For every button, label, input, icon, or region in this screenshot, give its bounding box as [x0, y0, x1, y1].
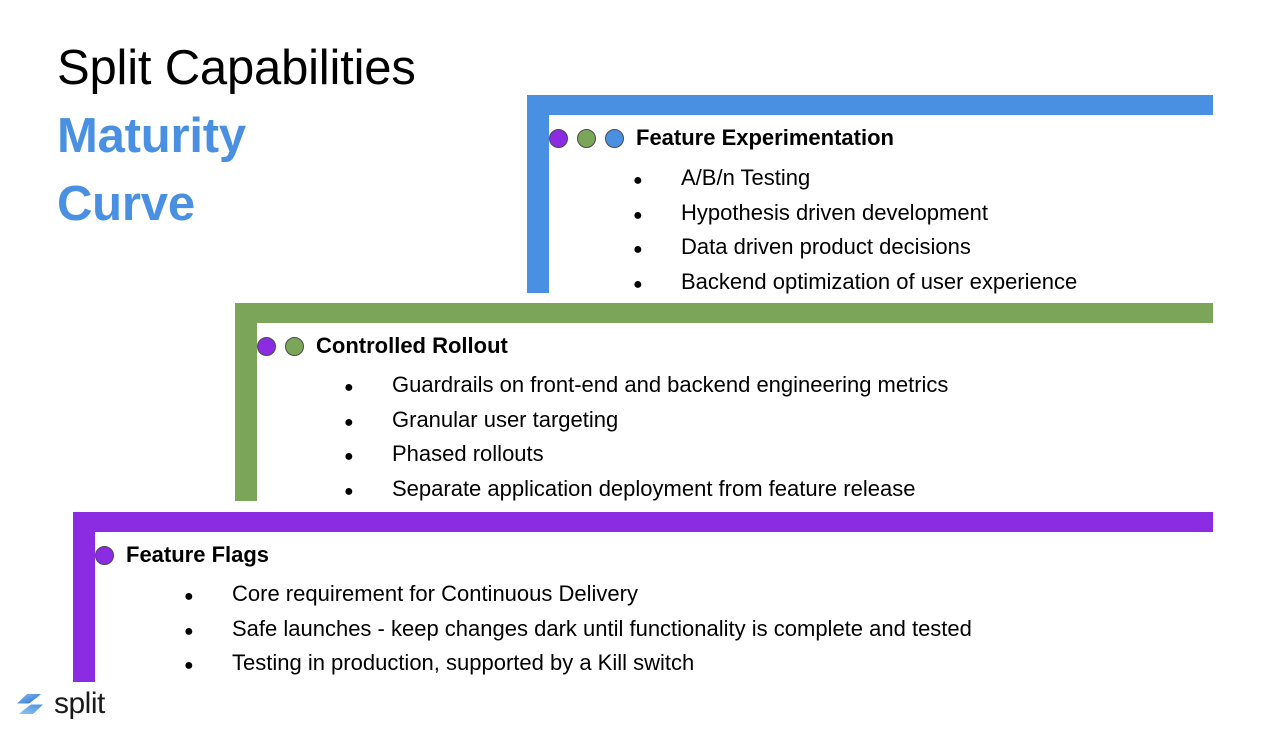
list-item: ● Testing in production, supported by a …	[182, 647, 1213, 682]
list-item-label: Backend optimization of user experience	[681, 266, 1077, 298]
maturity-dot-green-icon	[577, 129, 596, 148]
split-logo-icon	[14, 688, 46, 720]
list-item: ● Hypothesis driven development	[631, 197, 1213, 232]
bullet-marker-icon: ●	[182, 650, 232, 682]
maturity-dot-purple-icon	[549, 129, 568, 148]
tier-content: Feature Flags ● Core requirement for Con…	[95, 532, 1213, 682]
tier-bullet-list: ● Guardrails on front-end and backend en…	[257, 369, 1213, 507]
tier-title: Feature Experimentation	[636, 126, 894, 150]
slide-title-block: Split Capabilities Maturity Curve	[57, 34, 517, 238]
bullet-marker-icon: ●	[631, 269, 681, 301]
bullet-marker-icon: ●	[631, 165, 681, 197]
list-item: ● Data driven product decisions	[631, 231, 1213, 266]
tier-heading: Controlled Rollout	[257, 323, 1213, 358]
bullet-marker-icon: ●	[631, 200, 681, 232]
tier-bar-top	[73, 512, 1213, 532]
tier-heading: Feature Experimentation	[549, 115, 1213, 150]
tier-content: Controlled Rollout ● Guardrails on front…	[257, 323, 1213, 507]
tier-bar-top	[235, 303, 1213, 323]
tier-controlled-rollout: Controlled Rollout ● Guardrails on front…	[235, 303, 1213, 501]
tier-bar-left	[527, 95, 549, 293]
page-subtitle-line1: Maturity	[57, 102, 517, 170]
tier-bar-left	[73, 512, 95, 682]
tier-feature-flags: Feature Flags ● Core requirement for Con…	[73, 512, 1213, 682]
tier-dot-group	[257, 337, 304, 356]
tier-dot-group	[95, 546, 114, 565]
tier-title: Controlled Rollout	[316, 334, 508, 358]
list-item-label: Phased rollouts	[392, 438, 544, 470]
maturity-dot-blue-icon	[605, 129, 624, 148]
list-item: ● Backend optimization of user experienc…	[631, 266, 1213, 301]
tier-content: Feature Experimentation ● A/B/n Testing …	[549, 115, 1213, 300]
bullet-marker-icon: ●	[342, 407, 392, 439]
tier-bullet-list: ● Core requirement for Continuous Delive…	[95, 578, 1213, 682]
bullet-marker-icon: ●	[182, 616, 232, 648]
tier-feature-experimentation: Feature Experimentation ● A/B/n Testing …	[527, 95, 1213, 293]
page-subtitle-line2: Curve	[57, 170, 517, 238]
brand-name: split	[54, 688, 105, 720]
list-item-label: Hypothesis driven development	[681, 197, 988, 229]
bullet-marker-icon: ●	[342, 372, 392, 404]
maturity-dot-purple-icon	[257, 337, 276, 356]
list-item: ● Separate application deployment from f…	[342, 473, 1213, 508]
list-item: ● Phased rollouts	[342, 438, 1213, 473]
list-item: ● Granular user targeting	[342, 404, 1213, 439]
maturity-dot-green-icon	[285, 337, 304, 356]
bullet-marker-icon: ●	[182, 581, 232, 613]
list-item-label: Separate application deployment from fea…	[392, 473, 915, 505]
list-item: ● Safe launches - keep changes dark unti…	[182, 613, 1213, 648]
list-item-label: Core requirement for Continuous Delivery	[232, 578, 638, 610]
maturity-dot-purple-icon	[95, 546, 114, 565]
bullet-marker-icon: ●	[631, 234, 681, 266]
bullet-marker-icon: ●	[342, 476, 392, 508]
bullet-marker-icon: ●	[342, 441, 392, 473]
brand-logo: split	[14, 688, 105, 720]
list-item-label: Guardrails on front-end and backend engi…	[392, 369, 948, 401]
list-item-label: Testing in production, supported by a Ki…	[232, 647, 694, 679]
page-title: Split Capabilities	[57, 34, 517, 102]
list-item-label: A/B/n Testing	[681, 162, 810, 194]
list-item-label: Data driven product decisions	[681, 231, 971, 263]
list-item-label: Granular user targeting	[392, 404, 618, 436]
list-item-label: Safe launches - keep changes dark until …	[232, 613, 972, 645]
tier-bullet-list: ● A/B/n Testing ● Hypothesis driven deve…	[549, 162, 1213, 300]
tier-heading: Feature Flags	[95, 532, 1213, 567]
list-item: ● Guardrails on front-end and backend en…	[342, 369, 1213, 404]
list-item: ● A/B/n Testing	[631, 162, 1213, 197]
tier-dot-group	[549, 129, 624, 148]
tier-bar-top	[527, 95, 1213, 115]
tier-title: Feature Flags	[126, 543, 269, 567]
tier-bar-left	[235, 303, 257, 501]
list-item: ● Core requirement for Continuous Delive…	[182, 578, 1213, 613]
